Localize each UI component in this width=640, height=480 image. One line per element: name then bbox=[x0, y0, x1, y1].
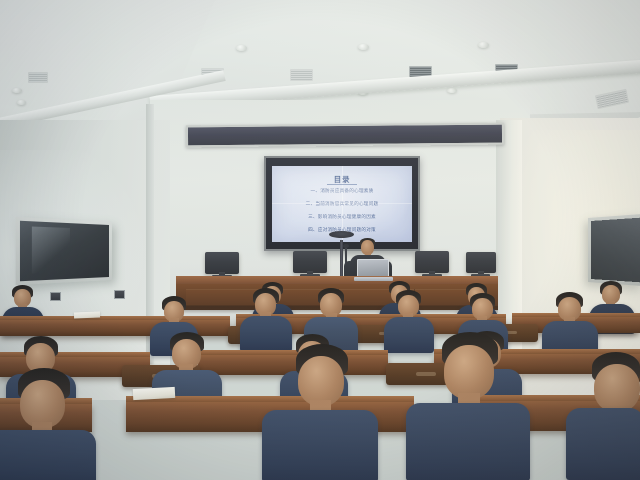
microphone-icon bbox=[343, 244, 349, 248]
wall-socket[interactable] bbox=[50, 292, 61, 301]
wall-valance-band bbox=[186, 123, 504, 148]
desk-monitor[interactable] bbox=[293, 251, 327, 273]
downlight-icon bbox=[12, 88, 22, 93]
screen-stand-base bbox=[329, 231, 354, 238]
ceiling-vent bbox=[290, 69, 313, 81]
ceiling-vent bbox=[28, 72, 48, 83]
downlight-icon bbox=[236, 45, 247, 51]
notebook bbox=[74, 312, 100, 319]
conference-room-photo: 目录 一、消防员应具备的心理素质 二、当前消防官兵常见的心理问题 三、影响消防员… bbox=[0, 0, 640, 480]
chair-slot bbox=[416, 372, 436, 376]
downlight-icon bbox=[17, 100, 26, 105]
downlight-icon bbox=[447, 88, 457, 93]
wall-socket[interactable] bbox=[114, 290, 125, 299]
desk-monitor[interactable] bbox=[466, 252, 496, 273]
display-left-glare bbox=[32, 226, 70, 273]
downlight-icon bbox=[358, 44, 369, 50]
downlight-icon bbox=[478, 42, 489, 48]
presenter-laptop-base bbox=[354, 277, 393, 281]
notebook bbox=[133, 387, 176, 400]
desk-monitor[interactable] bbox=[205, 252, 239, 274]
desk-monitor[interactable] bbox=[415, 251, 449, 273]
wall-mounted-display-right[interactable] bbox=[591, 218, 640, 283]
